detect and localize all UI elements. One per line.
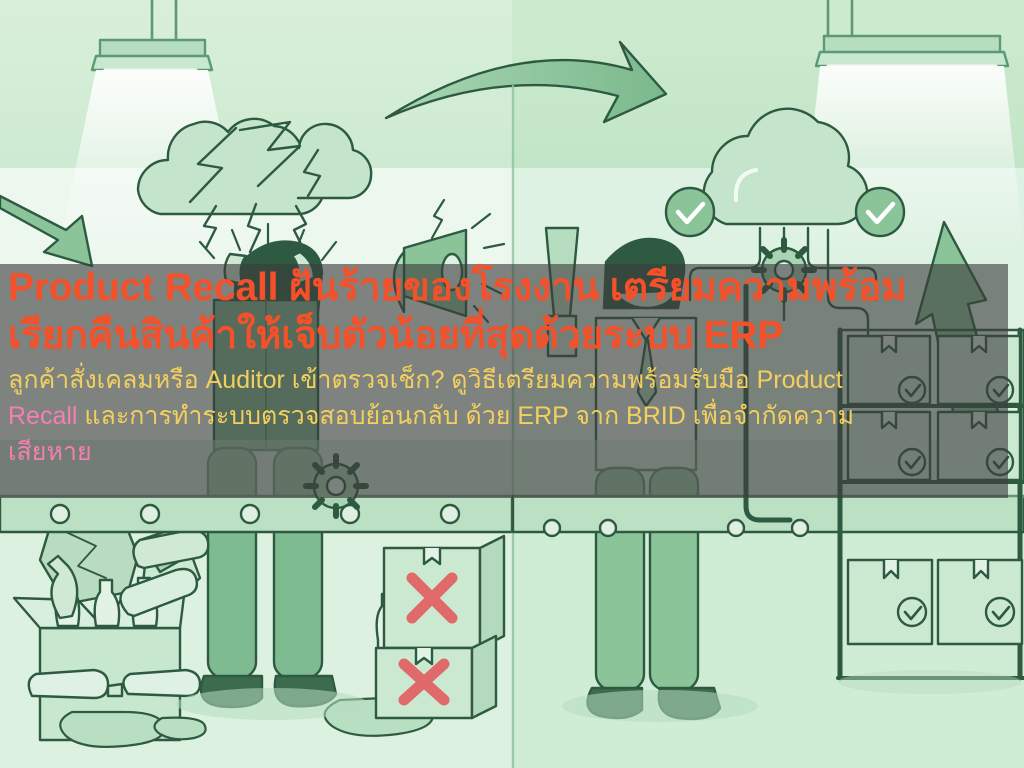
headline-line-1: Product Recall ฝันร้ายของโรงงาน เตรียมคว… (0, 264, 1024, 312)
approved-box-check-icon (938, 560, 1022, 644)
subheadline-line-2-recall: Recall (8, 402, 77, 430)
approved-box-check-icon (848, 560, 932, 644)
headline-line-2: เรียกคืนสินค้าให้เจ็บตัวน้อยที่สุดด้วยระ… (0, 312, 1024, 360)
check-circle-icon (666, 188, 714, 236)
headline-block: Product Recall ฝันร้ายของโรงงาน เตรียมคว… (0, 264, 1024, 470)
cover-banner: Product Recall ฝันร้ายของโรงงาน เตรียมคว… (0, 0, 1024, 768)
reject-box-x-icon (376, 536, 504, 718)
subheadline-line-3: เสียหาย (8, 434, 1014, 470)
subheadline-line-1: ลูกค้าสั่งเคลมหรือ Auditor เข้าตรวจเช็ก?… (8, 362, 1014, 398)
subheadline-block: ลูกค้าสั่งเคลมหรือ Auditor เข้าตรวจเช็ก?… (0, 360, 1024, 470)
check-circle-icon (856, 188, 904, 236)
subheadline-line-2-rest: และการทำระบบตรวจสอบย้อนกลับ ด้วย ERP จาก… (77, 402, 854, 430)
subheadline-line-2: Recall และการทำระบบตรวจสอบย้อนกลับ ด้วย … (8, 398, 1014, 434)
curved-right-arrow-icon (386, 42, 666, 122)
